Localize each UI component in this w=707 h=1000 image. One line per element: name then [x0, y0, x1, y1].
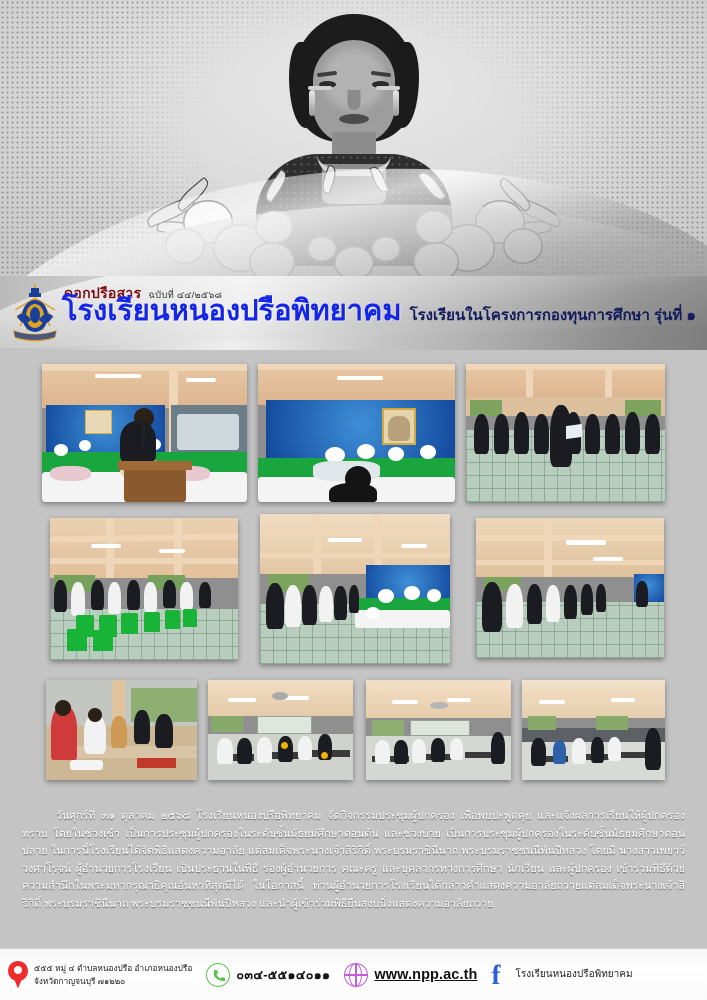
masthead-bar: ดอกปรือสาร ฉบับที่ ๔๔/๒๕๖๘ โรงเรียนหนองป… — [0, 276, 707, 350]
royal-thai-emblem-icon — [7, 280, 63, 346]
photo-director-podium-ceremony[interactable] — [42, 364, 247, 502]
photo-royal-portrait-altar[interactable] — [258, 364, 455, 502]
address-text: ๕๕๕ หมู่ ๔ ตำบลหนองปรือ อำเภอหนองปรือ จั… — [34, 962, 192, 987]
globe-icon — [344, 963, 368, 987]
hero-memorial-banner — [0, 0, 707, 292]
page-title: โรงเรียนหนองปรือพิทยาคม — [62, 296, 402, 326]
phone-number: ๐๓๔-๕๕๑๔๐๑๑ — [236, 965, 330, 985]
masthead-title-row: โรงเรียนหนองปรือพิทยาคม โรงเรียนในโครงกา… — [62, 296, 701, 326]
address-line-1: ๕๕๕ หมู่ ๔ ตำบลหนองปรือ อำเภอหนองปรือ — [34, 963, 192, 973]
portrait-lips — [339, 114, 369, 124]
photo-students-assembly-green-chairs[interactable] — [50, 518, 238, 660]
newsletter-poster: ดอกปรือสาร ฉบับที่ ๔๔/๒๕๖๘ โรงเรียนหนองป… — [0, 0, 707, 1000]
website-link[interactable]: www.npp.ac.th — [374, 967, 477, 983]
footer-phone[interactable]: ๐๓๔-๕๕๑๔๐๑๑ — [206, 963, 330, 987]
photo-staff-row-corridor[interactable] — [476, 518, 664, 658]
photo-classroom-meeting-1[interactable] — [208, 680, 353, 780]
portrait-nose — [347, 90, 360, 110]
article-paragraph: วันศุกร์ที่ ๓๑ ตุลาคม ๒๕๖๘ โรงเรียนหนองป… — [22, 808, 685, 914]
footer-website[interactable]: www.npp.ac.th — [344, 963, 477, 987]
facebook-icon: f — [491, 962, 509, 988]
photo-classroom-teacher-presenting[interactable] — [522, 680, 665, 780]
portrait-earring-right — [393, 90, 399, 116]
footer-facebook[interactable]: f โรงเรียนหนองปรือพิทยาคม — [491, 962, 632, 988]
photo-teachers-standing-tribute[interactable] — [466, 364, 665, 502]
photo-gallery — [0, 350, 707, 800]
footer-address: ๕๕๕ หมู่ ๔ ตำบลหนองปรือ อำเภอหนองปรือ จั… — [8, 961, 192, 989]
photo-registration-desk[interactable] — [46, 680, 197, 780]
photo-hall-line-up-altar[interactable] — [260, 514, 450, 664]
map-pin-icon — [8, 961, 28, 989]
facebook-page-name: โรงเรียนหนองปรือพิทยาคม — [515, 967, 632, 982]
article-body: วันศุกร์ที่ ๓๑ ตุลาคม ๒๕๖๘ โรงเรียนหนองป… — [0, 800, 707, 948]
address-line-2: จังหวัดกาญจนบุรี ๗๑๒๒๐ — [34, 976, 125, 986]
contact-footer: ๕๕๕ หมู่ ๔ ตำบลหนองปรือ อำเภอหนองปรือ จั… — [0, 948, 707, 1000]
phone-icon — [206, 963, 230, 987]
page-subtitle: โรงเรียนในโครงการกองทุนการศึกษา รุ่นที่ … — [410, 308, 696, 325]
portrait-earring-left — [309, 90, 315, 116]
photo-classroom-meeting-2[interactable] — [366, 680, 511, 780]
